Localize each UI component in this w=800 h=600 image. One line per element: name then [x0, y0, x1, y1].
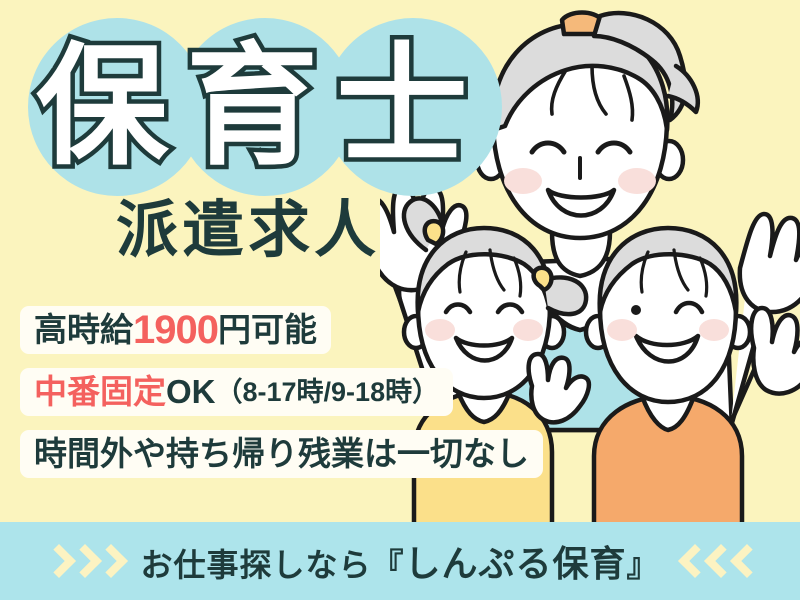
chevron-right-icon — [70, 544, 92, 578]
feature-box-overtime: 時間外や持ち帰り残業は一切なし — [20, 430, 543, 478]
feature-box-shift: 中番固定OK（8-17時/9-18時） — [20, 368, 453, 416]
shift-hours-text: （8-17時/9-18時） — [216, 377, 440, 407]
shift-highlight-text: 中番固定 — [34, 373, 166, 410]
chevron-left-group — [682, 544, 756, 578]
banner-message: お仕事探しなら『しんぷる保育』 — [140, 535, 659, 587]
chevron-right-group — [44, 544, 118, 578]
wage-suffix-text: 円可能 — [218, 311, 317, 348]
page-title: 保育士 — [36, 24, 496, 189]
feature-list: 高時給1900円可能 中番固定OK（8-17時/9-18時） 時間外や持ち帰り残… — [20, 306, 580, 492]
chevron-left-icon — [734, 544, 756, 578]
banner-lead-text: お仕事探しなら — [140, 547, 371, 583]
chevron-right-icon — [96, 544, 118, 578]
banner-brand-text: しんぷる保育 — [405, 543, 627, 584]
banner-close-quote: 』 — [627, 547, 660, 583]
overtime-text: 時間外や持ち帰り残業は一切なし — [34, 435, 529, 472]
poster-root: 保育士 派遣求人 高時給1900円可能 中番固定OK（8-17時/9-18時） … — [0, 0, 800, 600]
chevron-left-icon — [682, 544, 704, 578]
page-subtitle: 派遣求人 — [116, 196, 380, 266]
wage-amount-text: 1900 — [133, 308, 218, 352]
shift-ok-text: OK — [166, 373, 216, 410]
chevron-left-icon — [708, 544, 730, 578]
feature-box-wage: 高時給1900円可能 — [20, 306, 331, 354]
wage-prefix-text: 高時給 — [34, 311, 133, 348]
chevron-right-icon — [44, 544, 66, 578]
bottom-banner: お仕事探しなら『しんぷる保育』 — [0, 522, 800, 600]
banner-open-quote: 『 — [371, 547, 404, 583]
